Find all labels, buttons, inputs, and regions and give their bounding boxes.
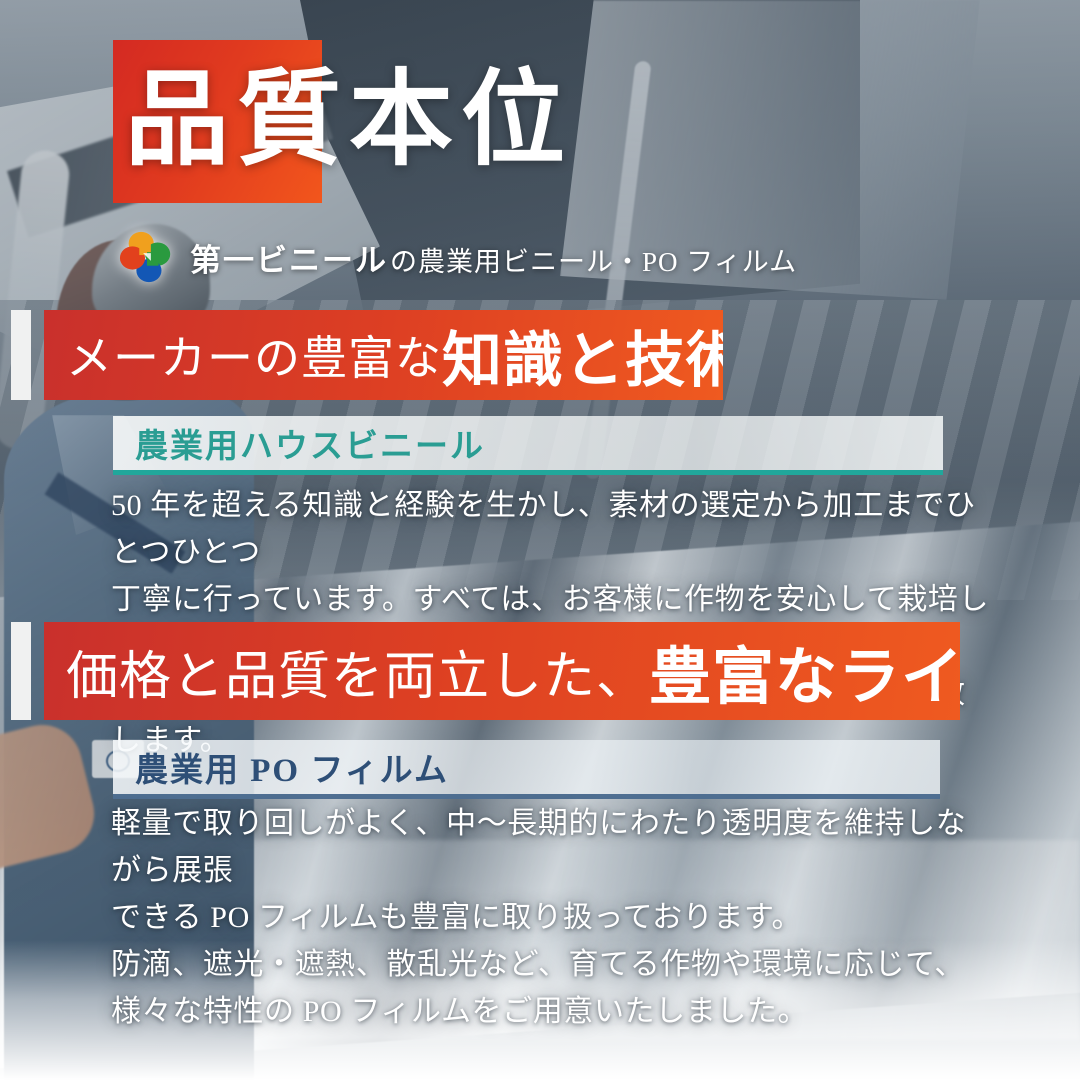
body-2-line-1: 軽量で取り回しがよく、中～長期的にわたり透明度を維持しながら展張 xyxy=(111,800,991,894)
subheading-band-1: 農業用ハウスビニール xyxy=(113,416,943,475)
section-banner-1: メーカーの豊富な 知識と技術 xyxy=(44,310,723,400)
promotional-banner: 品質本位 第一ビニール の農業用ビニール・PO フィルム xyxy=(0,0,1080,1080)
accent-bar-2 xyxy=(11,622,31,720)
section-banner-2: 価格と品質を両立した、 豊富なラインナップ xyxy=(44,622,960,720)
body-paragraph-2: 軽量で取り回しがよく、中～長期的にわたり透明度を維持しながら展張 できる PO … xyxy=(111,800,991,1035)
brand-text: 第一ビニール の農業用ビニール・PO フィルム xyxy=(190,235,797,280)
body-2-line-3: 防滴、遮光・遮熱、散乱光など、育てる作物や環境に応じて、 xyxy=(111,941,991,988)
banner-1-lead: メーカーの豊富な xyxy=(44,322,442,388)
subheading-1: 農業用ハウスビニール xyxy=(135,419,485,467)
banner-2-emphasis: 豊富なラインナップ xyxy=(649,626,960,716)
daiichi-vinyl-flower-logo-icon xyxy=(118,228,176,286)
banner-1-emphasis: 知識と技術 xyxy=(442,312,723,399)
accent-bar-1 xyxy=(11,310,31,400)
subheading-band-2: 農業用 PO フィルム xyxy=(113,740,940,799)
subheading-2: 農業用 PO フィルム xyxy=(135,743,449,791)
brand-row: 第一ビニール の農業用ビニール・PO フィルム xyxy=(118,228,797,286)
page-title: 品質本位 xyxy=(125,62,685,182)
body-2-line-4: 様々な特性の PO フィルムをご用意いたしました。 xyxy=(111,988,991,1035)
brand-name: 第一ビニール xyxy=(190,235,388,280)
banner-2-lead: 価格と品質を両立した、 xyxy=(44,634,649,709)
brand-tagline: の農業用ビニール・PO フィルム xyxy=(390,240,797,279)
content-layer: 品質本位 第一ビニール の農業用ビニール・PO フィルム xyxy=(0,0,1080,1080)
body-2-line-2: できる PO フィルムも豊富に取り扱っております。 xyxy=(111,894,991,941)
body-1-line-1: 50 年を超える知識と経験を生かし、素材の選定から加工までひとつひとつ xyxy=(111,482,991,576)
